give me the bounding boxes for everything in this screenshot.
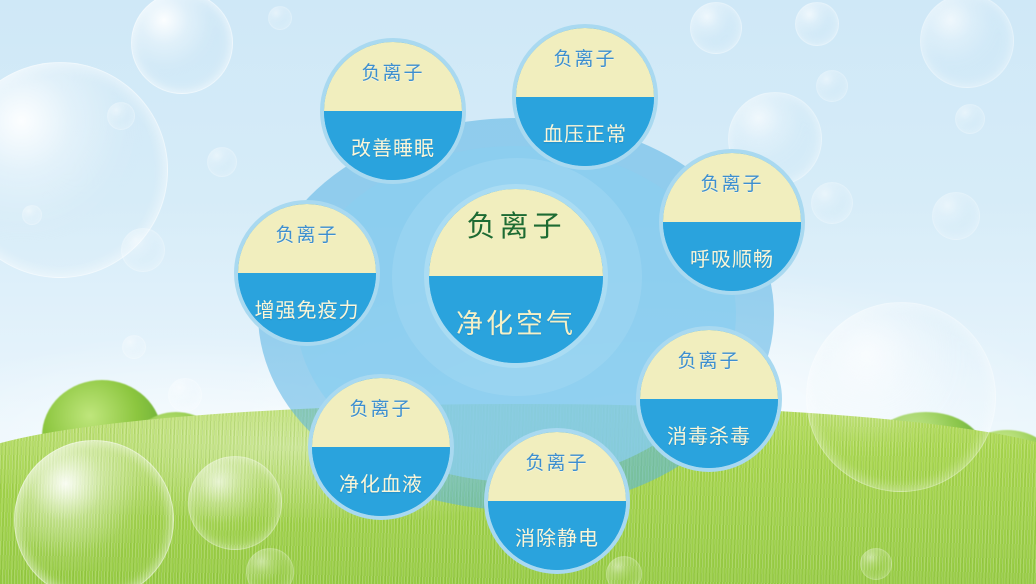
node-top-label: 负离子 — [525, 454, 588, 473]
node-top-label: 负离子 — [349, 400, 412, 419]
node-purify-blood[interactable]: 负离子 净化血液 — [308, 374, 454, 520]
node-normal-blood-pressure[interactable]: 负离子 血压正常 — [512, 24, 658, 170]
node-center-purify-air[interactable]: 负离子 净化空气 — [424, 184, 608, 368]
node-improve-sleep[interactable]: 负离子 改善睡眠 — [320, 38, 466, 184]
node-bottom-label: 消除静电 — [515, 528, 599, 548]
node-bottom-label: 改善睡眠 — [351, 138, 435, 158]
center-top-label: 负离子 — [466, 212, 565, 241]
node-remove-static[interactable]: 负离子 消除静电 — [484, 428, 630, 574]
node-top-label: 负离子 — [700, 175, 763, 194]
node-boost-immunity[interactable]: 负离子 增强免疫力 — [234, 200, 380, 346]
node-top-label: 负离子 — [361, 64, 424, 83]
node-smooth-breathing[interactable]: 负离子 呼吸顺畅 — [659, 149, 805, 295]
node-top-label: 负离子 — [275, 226, 338, 245]
node-bottom-label: 呼吸顺畅 — [690, 249, 774, 269]
node-bottom-label: 血压正常 — [543, 124, 627, 144]
node-bottom-label: 消毒杀毒 — [667, 426, 751, 446]
infographic-stage: 负离子 改善睡眠 负离子 血压正常 负离子 呼吸顺畅 负离子 消毒杀毒 — [0, 0, 1036, 584]
node-disinfect-sterilize[interactable]: 负离子 消毒杀毒 — [636, 326, 782, 472]
node-bottom-label: 增强免疫力 — [255, 300, 360, 320]
node-bottom-label: 净化血液 — [339, 474, 423, 494]
center-bottom-label: 净化空气 — [456, 311, 576, 338]
node-top-label: 负离子 — [553, 50, 616, 69]
node-top-label: 负离子 — [677, 352, 740, 371]
